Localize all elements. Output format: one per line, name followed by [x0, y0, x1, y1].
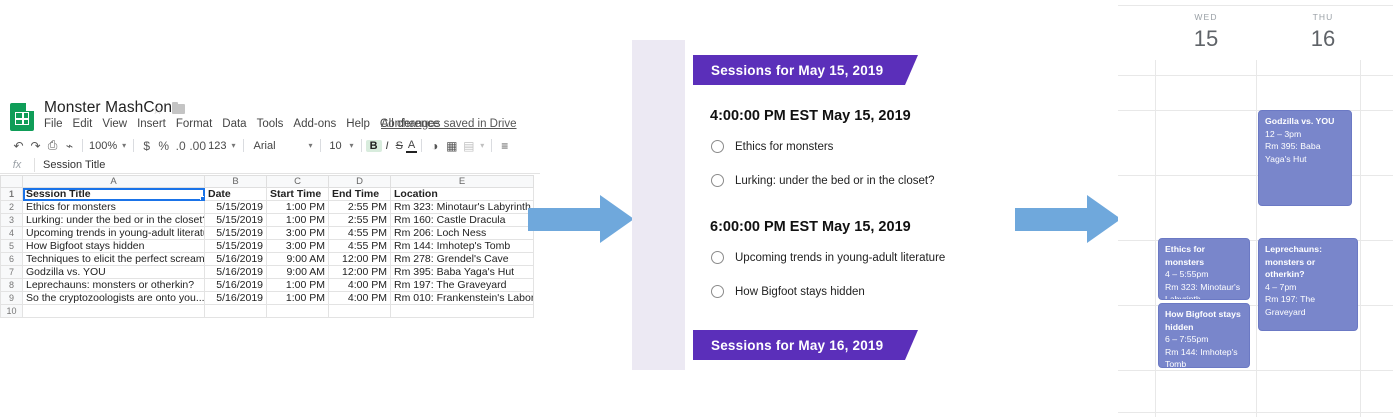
menu-item-tools[interactable]: Tools: [257, 118, 284, 130]
currency-button[interactable]: $: [138, 139, 155, 153]
screenshot-stage: Monster MashCon ☆ File Edit View Insert …: [0, 0, 1393, 417]
session-option-3[interactable]: Upcoming trends in young-adult literatur…: [711, 251, 945, 264]
percent-button[interactable]: %: [155, 139, 172, 153]
calendar-day-of-week: WED: [1156, 12, 1256, 22]
decrease-decimal-button[interactable]: .0: [172, 139, 189, 153]
font-size-select[interactable]: 10: [325, 140, 347, 152]
google-sheets-window: Monster MashCon ☆ File Edit View Insert …: [0, 95, 540, 320]
cell-end-time[interactable]: 2:55 PM: [329, 214, 391, 227]
banner-may-16: Sessions for May 16, 2019: [693, 330, 905, 360]
cell-empty[interactable]: [23, 305, 205, 318]
cell-start-time[interactable]: 1:00 PM: [267, 214, 329, 227]
cell-end-time[interactable]: 4:55 PM: [329, 240, 391, 253]
cell-location[interactable]: Rm 278: Grendel's Cave: [391, 253, 534, 266]
calendar-day-header-thu[interactable]: THU 16: [1273, 12, 1373, 52]
row-number[interactable]: 6: [1, 253, 23, 266]
menu-item-insert[interactable]: Insert: [137, 118, 166, 130]
cell-date[interactable]: 5/16/2019: [205, 279, 267, 292]
cell-date[interactable]: 5/16/2019: [205, 292, 267, 305]
cell-location[interactable]: Rm 144: Imhotep's Tomb: [391, 240, 534, 253]
formula-input[interactable]: Session Title: [35, 159, 105, 171]
cell-location[interactable]: Rm 197: The Graveyard: [391, 279, 534, 292]
event-time: 12 – 3pm: [1265, 128, 1346, 141]
cell-location[interactable]: Rm 395: Baba Yaga's Hut: [391, 266, 534, 279]
cell-empty[interactable]: [329, 305, 391, 318]
event-time: 6 – 7:55pm: [1165, 333, 1244, 346]
row-number[interactable]: 5: [1, 240, 23, 253]
toolbar-divider: [421, 139, 422, 152]
column-header-b[interactable]: B: [205, 176, 267, 188]
row-number[interactable]: 4: [1, 227, 23, 240]
event-time: 4 – 5:55pm: [1165, 268, 1244, 281]
toolbar-divider: [82, 139, 83, 152]
event-title: Godzilla vs. YOU: [1265, 115, 1346, 128]
cell-e1[interactable]: Location: [391, 188, 534, 201]
calendar-column-divider: [1256, 60, 1257, 417]
cell-start-time[interactable]: 1:00 PM: [267, 279, 329, 292]
number-format-button[interactable]: 123: [206, 140, 228, 152]
font-family-select[interactable]: Arial: [248, 140, 306, 152]
calendar-hour-line: [1118, 110, 1393, 111]
fill-color-icon[interactable]: ◑: [426, 139, 443, 153]
cell-date[interactable]: 5/15/2019: [205, 214, 267, 227]
borders-icon[interactable]: ▦: [443, 139, 460, 153]
toolbar-divider: [361, 139, 362, 152]
calendar-day-header-wed[interactable]: WED 15: [1156, 12, 1256, 52]
banner-tail: [905, 55, 918, 85]
calendar-event-leprechauns[interactable]: Leprechauns: monsters or otherkin? 4 – 7…: [1258, 238, 1358, 331]
cell-location[interactable]: Rm 323: Minotaur's Labyrinth: [391, 201, 534, 214]
google-calendar-panel: WED 15 THU 16 Godzilla vs. YOU 12 – 3pm …: [1118, 0, 1393, 417]
menu-item-view[interactable]: View: [102, 118, 127, 130]
table-row[interactable]: 6 Techniques to elicit the perfect screa…: [1, 253, 534, 266]
table-row[interactable]: 8 Leprechauns: monsters or otherkin? 5/1…: [1, 279, 534, 292]
calendar-hour-line: [1118, 412, 1393, 413]
cell-start-time[interactable]: 1:00 PM: [267, 292, 329, 305]
calendar-column-divider: [1155, 60, 1156, 417]
save-status[interactable]: All changes saved in Drive: [381, 118, 517, 130]
session-option-2[interactable]: Lurking: under the bed or in the closet?: [711, 174, 934, 187]
increase-decimal-button[interactable]: .00: [189, 139, 206, 153]
calendar-hour-line: [1118, 370, 1393, 371]
calendar-event-ethics[interactable]: Ethics for monsters 4 – 5:55pm Rm 323: M…: [1158, 238, 1250, 300]
calendar-day-number: 15: [1156, 26, 1256, 52]
corner-cell[interactable]: [1, 176, 23, 188]
event-title: How Bigfoot stays hidden: [1165, 308, 1244, 333]
table-row[interactable]: 10: [1, 305, 534, 318]
event-title: Leprechauns: monsters or otherkin?: [1265, 243, 1352, 281]
cell-start-time[interactable]: 9:00 AM: [267, 266, 329, 279]
menu-item-data[interactable]: Data: [222, 118, 246, 130]
cell-empty[interactable]: [391, 305, 534, 318]
sheets-title-bar: Monster MashCon ☆ File Edit View Insert …: [0, 95, 540, 140]
cell-end-time[interactable]: 4:55 PM: [329, 227, 391, 240]
row-number[interactable]: 2: [1, 201, 23, 214]
sheets-logo-icon: [10, 103, 34, 131]
cell-end-time[interactable]: 2:55 PM: [329, 201, 391, 214]
column-header-d[interactable]: D: [329, 176, 391, 188]
table-row[interactable]: 4 Upcoming trends in young-adult literat…: [1, 227, 534, 240]
toolbar-divider: [491, 139, 492, 152]
table-row[interactable]: 7 Godzilla vs. YOU 5/16/2019 9:00 AM 12:…: [1, 266, 534, 279]
cell-date[interactable]: 5/15/2019: [205, 227, 267, 240]
radio-button-icon[interactable]: [711, 140, 724, 153]
session-option-label: How Bigfoot stays hidden: [735, 286, 865, 298]
row-number[interactable]: 10: [1, 305, 23, 318]
table-row[interactable]: 9 So the cryptozoologists are onto you..…: [1, 292, 534, 305]
cell-start-time[interactable]: 3:00 PM: [267, 240, 329, 253]
cell-end-time[interactable]: 4:00 PM: [329, 279, 391, 292]
redo-icon[interactable]: ↷: [27, 139, 44, 153]
row-number[interactable]: 1: [1, 188, 23, 201]
event-location: Rm 395: Baba Yaga's Hut: [1265, 140, 1346, 165]
chevron-down-icon[interactable]: ▾: [119, 141, 129, 150]
session-option-4[interactable]: How Bigfoot stays hidden: [711, 285, 865, 298]
cell-session-title[interactable]: Godzilla vs. YOU: [23, 266, 205, 279]
cell-session-title[interactable]: Lurking: under the bed or in the closet?: [23, 214, 205, 227]
cell-date[interactable]: 5/16/2019: [205, 253, 267, 266]
row-number[interactable]: 9: [1, 292, 23, 305]
cell-date[interactable]: 5/15/2019: [205, 240, 267, 253]
event-location: Rm 323: Minotaur's Labyrinth: [1165, 281, 1244, 301]
menu-item-edit[interactable]: Edit: [73, 118, 93, 130]
banner-label: Sessions for May 15, 2019: [693, 63, 883, 78]
merge-cells-icon[interactable]: ▤: [460, 139, 477, 153]
sheets-toolbar: ↶ ↷ ⎙ ⌁ 100% ▾ $ % .0 .00 123 ▾ Arial ▾ …: [0, 135, 540, 156]
cell-c1[interactable]: Start Time: [267, 188, 329, 201]
chevron-down-icon[interactable]: ▾: [477, 141, 487, 150]
fx-icon: fx: [0, 159, 34, 171]
cell-start-time[interactable]: 3:00 PM: [267, 227, 329, 240]
chevron-down-icon[interactable]: ▾: [229, 141, 239, 150]
cell-date[interactable]: 5/15/2019: [205, 201, 267, 214]
table-row[interactable]: 5 How Bigfoot stays hidden 5/15/2019 3:0…: [1, 240, 534, 253]
align-icon[interactable]: ≡: [496, 139, 513, 153]
session-option-label: Upcoming trends in young-adult literatur…: [735, 252, 945, 264]
column-header-row: A B C D E: [1, 176, 534, 188]
menu-item-addons[interactable]: Add-ons: [293, 118, 336, 130]
toolbar-divider: [243, 139, 244, 152]
calendar-day-number: 16: [1273, 26, 1373, 52]
chevron-down-icon[interactable]: ▾: [306, 141, 316, 150]
cell-location[interactable]: Rm 206: Loch Ness: [391, 227, 534, 240]
row-number[interactable]: 3: [1, 214, 23, 227]
row-number[interactable]: 8: [1, 279, 23, 292]
cell-start-time[interactable]: 1:00 PM: [267, 201, 329, 214]
cell-location[interactable]: Rm 160: Castle Dracula: [391, 214, 534, 227]
event-time: 4 – 7pm: [1265, 281, 1352, 294]
print-icon[interactable]: ⎙: [44, 138, 61, 153]
table-row[interactable]: 2 Ethics for monsters 5/15/2019 1:00 PM …: [1, 201, 534, 214]
cell-date[interactable]: 5/16/2019: [205, 266, 267, 279]
cell-session-title[interactable]: So the cryptozoologists are onto you...: [23, 292, 205, 305]
cell-location[interactable]: Rm 010: Frankenstein's Laboratory: [391, 292, 534, 305]
toolbar-divider: [133, 139, 134, 152]
cell-start-time[interactable]: 9:00 AM: [267, 253, 329, 266]
calendar-hour-line: [1118, 75, 1393, 76]
strikethrough-button[interactable]: S: [393, 140, 406, 152]
cell-session-title[interactable]: Leprechauns: monsters or otherkin?: [23, 279, 205, 292]
cell-d1[interactable]: End Time: [329, 188, 391, 201]
folder-icon[interactable]: [172, 104, 185, 114]
column-header-c[interactable]: C: [267, 176, 329, 188]
session-time-heading-2: 6:00:00 PM EST May 15, 2019: [710, 219, 911, 235]
arrow-doc-to-calendar: [1015, 195, 1121, 243]
cell-session-title[interactable]: How Bigfoot stays hidden: [23, 240, 205, 253]
cell-end-time[interactable]: 4:00 PM: [329, 292, 391, 305]
cell-end-time[interactable]: 12:00 PM: [329, 253, 391, 266]
column-header-e[interactable]: E: [391, 176, 534, 188]
event-location: Rm 144: Imhotep's Tomb: [1165, 346, 1244, 369]
document-margin-strip: [632, 40, 685, 370]
row-number[interactable]: 7: [1, 266, 23, 279]
cell-empty[interactable]: [205, 305, 267, 318]
banner-label: Sessions for May 16, 2019: [693, 338, 883, 353]
spreadsheet-grid[interactable]: A B C D E 1 Session Title Date Start Tim…: [0, 175, 540, 318]
calendar-top-rule: [1118, 5, 1393, 6]
calendar-event-godzilla[interactable]: Godzilla vs. YOU 12 – 3pm Rm 395: Baba Y…: [1258, 110, 1352, 206]
radio-button-icon[interactable]: [711, 251, 724, 264]
calendar-day-of-week: THU: [1273, 12, 1373, 22]
banner-may-15: Sessions for May 15, 2019: [693, 55, 905, 85]
cell-empty[interactable]: [267, 305, 329, 318]
cell-end-time[interactable]: 12:00 PM: [329, 266, 391, 279]
paint-format-icon[interactable]: ⌁: [61, 139, 78, 153]
italic-button[interactable]: I: [382, 140, 393, 152]
session-option-label: Lurking: under the bed or in the closet?: [735, 175, 934, 187]
calendar-column-divider: [1360, 60, 1361, 417]
calendar-event-bigfoot[interactable]: How Bigfoot stays hidden 6 – 7:55pm Rm 1…: [1158, 303, 1250, 368]
menu-item-file[interactable]: File: [44, 118, 63, 130]
star-icon[interactable]: ☆: [152, 103, 163, 117]
bold-button[interactable]: B: [366, 140, 382, 152]
toolbar-divider: [320, 139, 321, 152]
table-row[interactable]: 3 Lurking: under the bed or in the close…: [1, 214, 534, 227]
chevron-down-icon[interactable]: ▾: [347, 141, 357, 150]
session-time-heading-1: 4:00:00 PM EST May 15, 2019: [710, 108, 911, 124]
banner-tail: [905, 330, 918, 360]
arrow-sheets-to-doc: [528, 195, 634, 243]
text-color-button[interactable]: A: [406, 139, 417, 153]
undo-icon[interactable]: ↶: [10, 139, 27, 153]
menu-item-format[interactable]: Format: [176, 118, 212, 130]
session-option-1[interactable]: Ethics for monsters: [711, 140, 833, 153]
cell-session-title[interactable]: Ethics for monsters: [23, 201, 205, 214]
document-page: [685, 40, 912, 370]
session-option-label: Ethics for monsters: [735, 141, 833, 153]
formula-bar: fx Session Title: [0, 156, 540, 174]
cell-session-title[interactable]: Techniques to elicit the perfect scream: [23, 253, 205, 266]
cell-session-title[interactable]: Upcoming trends in young-adult literatur…: [23, 227, 205, 240]
radio-button-icon[interactable]: [711, 174, 724, 187]
column-header-a[interactable]: A: [23, 176, 205, 188]
event-location: Rm 197: The Graveyard: [1265, 293, 1352, 318]
menu-item-help[interactable]: Help: [346, 118, 370, 130]
radio-button-icon[interactable]: [711, 285, 724, 298]
cell-a1[interactable]: Session Title: [23, 188, 205, 201]
cell-b1[interactable]: Date: [205, 188, 267, 201]
session-list-document: Sessions for May 15, 2019 4:00:00 PM EST…: [632, 40, 912, 370]
event-title: Ethics for monsters: [1165, 243, 1244, 268]
table-row[interactable]: 1 Session Title Date Start Time End Time…: [1, 188, 534, 201]
zoom-level[interactable]: 100%: [87, 140, 119, 152]
